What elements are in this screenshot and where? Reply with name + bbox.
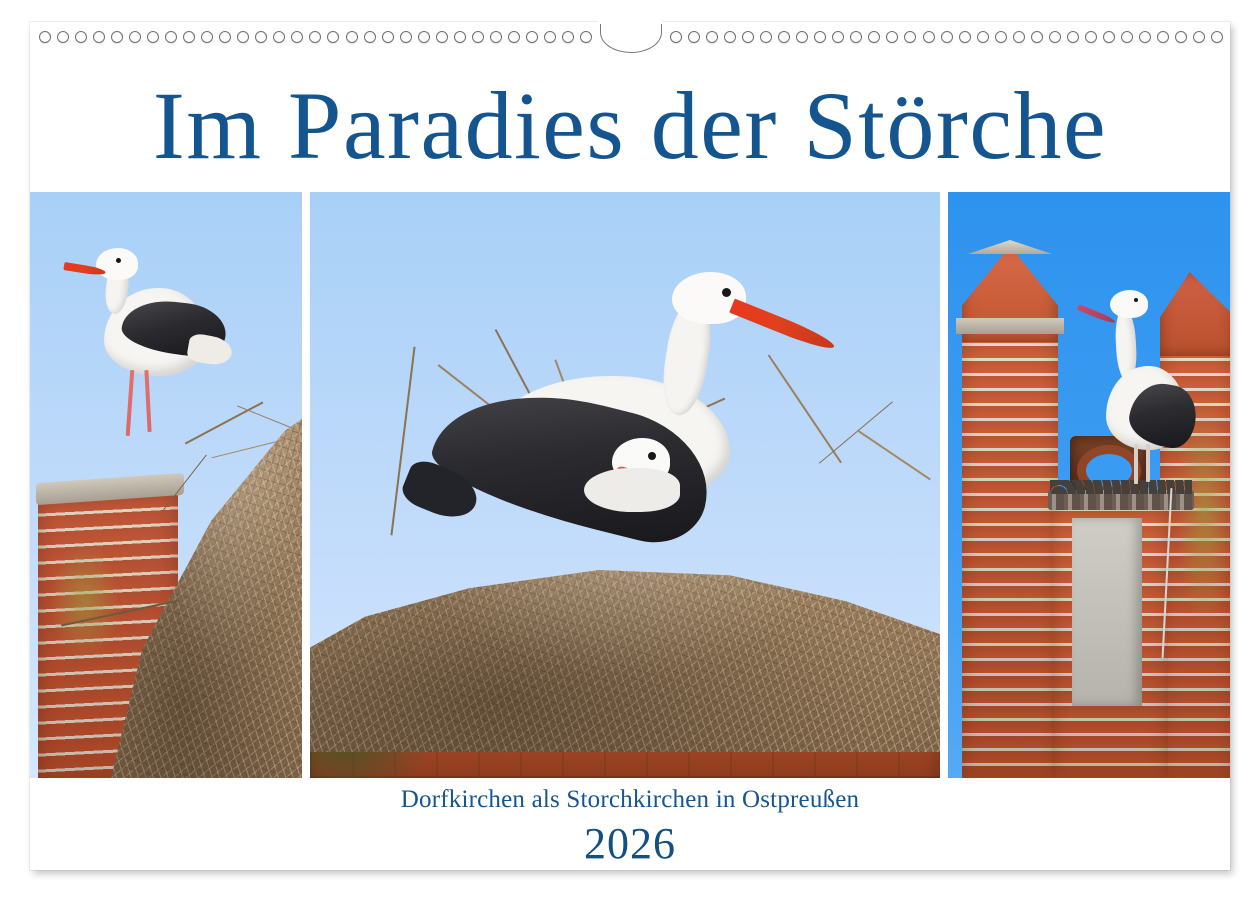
binding-ring: [418, 31, 430, 43]
stork-chick-center: [590, 438, 720, 548]
binding-ring: [526, 31, 538, 43]
belfry-plaster-panel: [1072, 518, 1142, 706]
photo-center-stork-pair: [310, 192, 940, 778]
stork-head: [96, 248, 138, 280]
binding-ring: [1031, 31, 1043, 43]
binding-ring: [923, 31, 935, 43]
binding-ring: [1067, 31, 1079, 43]
binding-ring: [436, 31, 448, 43]
binding-ring: [580, 31, 592, 43]
binding-ring: [868, 31, 880, 43]
title-block: Im Paradies der Störche: [30, 78, 1230, 174]
binding-ring: [760, 31, 772, 43]
belfry-left-cap: [956, 318, 1064, 334]
binding-ring: [291, 31, 303, 43]
binding-ring: [454, 31, 466, 43]
page-title: Im Paradies der Störche: [30, 78, 1230, 174]
binding-ring: [977, 31, 989, 43]
binding-ring: [75, 31, 87, 43]
binding-ring: [1013, 31, 1025, 43]
hanging-hole-mask: [598, 18, 662, 24]
moss-patch-left: [50, 542, 120, 662]
photo-right-stork-on-belfry: [948, 192, 1230, 778]
caption-block: Dorfkirchen als Storchkirchen in Ostpreu…: [30, 784, 1230, 871]
binding-ring: [129, 31, 141, 43]
binding-ring: [959, 31, 971, 43]
belfry-left-pillar: [962, 330, 1058, 778]
binding-ring: [309, 31, 321, 43]
stork-eye: [1134, 298, 1138, 302]
binding-ring: [346, 31, 358, 43]
binding-ring: [472, 31, 484, 43]
stork-eye: [722, 288, 731, 297]
binding-ring: [364, 31, 376, 43]
binding-ring: [382, 31, 394, 43]
stork-eye: [116, 258, 121, 263]
binding-ring: [219, 31, 231, 43]
calendar-subtitle: Dorfkirchen als Storchkirchen in Ostpreu…: [30, 784, 1230, 815]
stork-head: [1110, 290, 1148, 318]
binding-ring: [111, 31, 123, 43]
calendar-year: 2026: [30, 817, 1230, 871]
binding-ring: [237, 31, 249, 43]
hanging-hole: [600, 22, 662, 53]
binding-ring: [1175, 31, 1187, 43]
binding-ring: [39, 31, 51, 43]
binding-ring: [904, 31, 916, 43]
binding-ring: [1049, 31, 1061, 43]
stork-bill: [729, 299, 837, 354]
stork-leg: [1134, 444, 1138, 484]
binding-ring: [544, 31, 556, 43]
stork-left: [76, 244, 246, 444]
binding-ring: [670, 31, 682, 43]
binding-ring: [778, 31, 790, 43]
binding-ring: [995, 31, 1007, 43]
chick-body: [584, 468, 680, 512]
calendar-cover-sheet: Im Paradies der Störche: [30, 22, 1230, 870]
binding-ring: [400, 31, 412, 43]
binding-ring: [1103, 31, 1115, 43]
binding-ring: [147, 31, 159, 43]
spiral-binding: [30, 22, 1230, 58]
binding-ring: [814, 31, 826, 43]
binding-ring: [941, 31, 953, 43]
stork-leg: [126, 370, 135, 436]
binding-ring: [886, 31, 898, 43]
binding-ring: [273, 31, 285, 43]
binding-ring: [165, 31, 177, 43]
binding-ring: [832, 31, 844, 43]
binding-ring: [742, 31, 754, 43]
binding-ring: [508, 31, 520, 43]
binding-ring: [327, 31, 339, 43]
binding-ring: [57, 31, 69, 43]
binding-ring: [796, 31, 808, 43]
binding-ring: [1085, 31, 1097, 43]
stork-leg: [1146, 444, 1150, 482]
binding-ring: [255, 31, 267, 43]
binding-ring: [706, 31, 718, 43]
binding-ring: [688, 31, 700, 43]
photo-strip: [30, 192, 1230, 778]
binding-ring: [1139, 31, 1151, 43]
binding-ring: [183, 31, 195, 43]
chick-eye: [648, 452, 656, 460]
binding-ring: [93, 31, 105, 43]
photo-left-stork-on-nest: [30, 192, 302, 778]
binding-ring: [201, 31, 213, 43]
binding-ring: [1193, 31, 1205, 43]
stork-right: [1080, 274, 1220, 492]
binding-ring: [1211, 31, 1223, 43]
binding-ring: [490, 31, 502, 43]
binding-ring: [850, 31, 862, 43]
binding-ring: [1121, 31, 1133, 43]
stork-leg: [144, 370, 151, 432]
binding-ring: [562, 31, 574, 43]
binding-ring: [1157, 31, 1169, 43]
binding-ring: [724, 31, 736, 43]
